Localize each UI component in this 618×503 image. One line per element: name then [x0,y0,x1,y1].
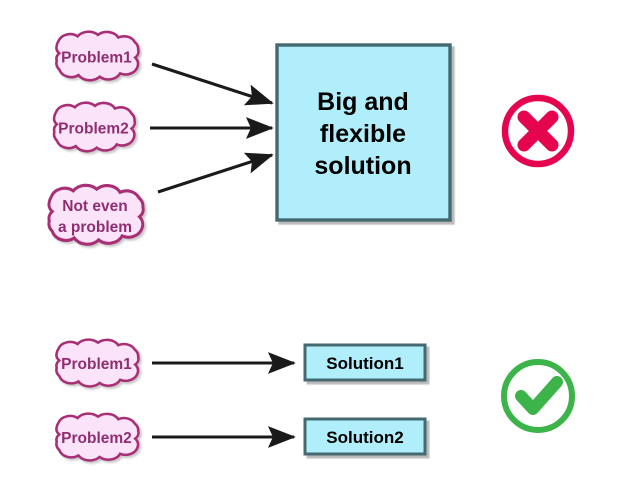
box-solution-1-label: Solution1 [326,354,403,373]
box-big-solution-label-line2: flexible [320,120,406,148]
bottom-arrow-group [152,363,294,437]
box-big-solution[interactable]: Big and flexible solution [277,45,450,220]
cloud-top-problem-1[interactable]: Problem1 [56,32,138,81]
check-circle-icon [504,362,572,430]
diagram-canvas: Problem1 Problem2 Not even a problem Big… [0,0,618,503]
cloud-bottom-problem-2-label: Problem2 [61,430,132,447]
box-solution-2-label: Solution2 [326,428,403,447]
cloud-top-non-problem-label-line1: Not even [62,198,127,215]
cloud-top-problem-2-label: Problem2 [58,121,129,138]
cloud-top-non-problem-label-line2: a problem [58,219,132,236]
check-icon-stroke [521,382,557,409]
cloud-top-non-problem[interactable]: Not even a problem [49,185,143,244]
box-big-solution-label-line3: solution [314,152,411,180]
box-big-solution-label-line1: Big and [317,88,409,116]
box-solution-1[interactable]: Solution1 [305,345,425,380]
box-solution-2[interactable]: Solution2 [305,419,425,454]
cross-icon-strokes [524,117,552,145]
cloud-bottom-problem-2[interactable]: Problem2 [56,414,138,461]
top-arrow-group [150,64,272,192]
cross-circle-icon [505,98,571,164]
diagram-svg: Problem1 Problem2 Not even a problem Big… [0,0,618,503]
cloud-top-problem-2[interactable]: Problem2 [54,103,135,152]
arrow-nonproblem-to-big-solution [158,155,272,192]
cloud-bottom-problem-1[interactable]: Problem1 [56,340,138,387]
cloud-top-problem-1-label: Problem1 [61,50,132,67]
cloud-bottom-problem-1-label: Problem1 [61,356,132,373]
arrow-problem1-to-big-solution [152,64,272,103]
